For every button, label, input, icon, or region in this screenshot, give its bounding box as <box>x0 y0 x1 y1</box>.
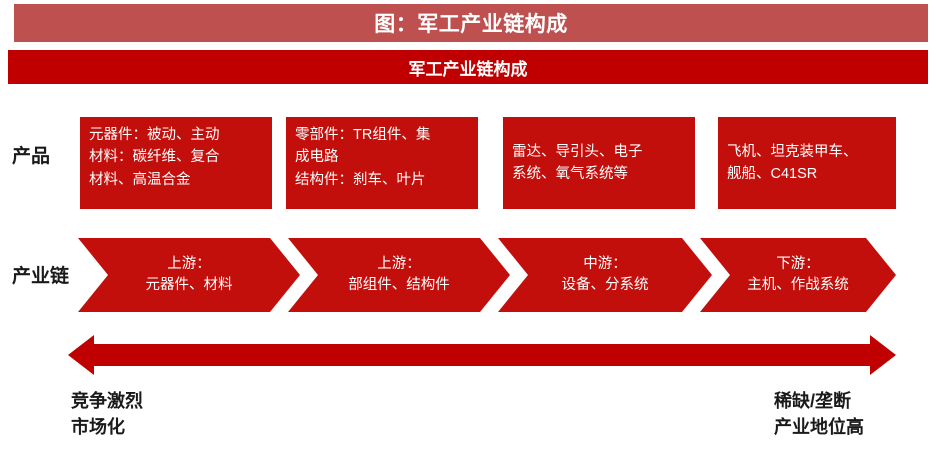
figure-subtitle: 军工产业链构成 <box>409 55 528 80</box>
product-box-line: 结构件：刹车、叶片 <box>295 169 469 191</box>
figure-subtitle-bar: 军工产业链构成 <box>8 50 928 84</box>
industry-chain-chevron-row: 上游： 元器件、材料 上游： 部组件、结构件 中游： 设备、分系统 下游： 主机… <box>78 238 896 312</box>
chain-stage-line1: 上游： <box>167 254 211 275</box>
product-box-line: 成电路 <box>295 146 469 168</box>
figure-title-bar: 图：军工产业链构成 <box>14 4 928 42</box>
chain-stage-line1: 上游： <box>377 254 421 275</box>
page-title: 图：军工产业链构成 <box>374 8 568 38</box>
product-box-line: 系统、氧气系统等 <box>512 163 686 185</box>
product-box-line: 舰船、C41SR <box>727 163 887 185</box>
chain-stage-line2: 元器件、材料 <box>146 275 233 296</box>
caption-scarce-monopoly: 稀缺/垄断 产业地位高 <box>774 388 864 440</box>
caption-line: 产业地位高 <box>774 414 864 440</box>
chain-stage-line2: 部组件、结构件 <box>348 275 450 296</box>
row-label-product: 产品 <box>12 141 50 168</box>
product-box-upstream-parts: 零部件：TR组件、集 成电路 结构件：刹车、叶片 <box>286 117 478 209</box>
product-box-line: 材料、高温合金 <box>89 169 263 191</box>
chain-stage-line2: 设备、分系统 <box>562 275 649 296</box>
product-box-line: 元器件：被动、主动 <box>89 124 263 146</box>
chain-stage-line1: 中游： <box>583 254 627 275</box>
caption-line: 稀缺/垄断 <box>774 388 864 414</box>
chain-stage-midstream: 中游： 设备、分系统 <box>498 238 712 312</box>
row-label-chain: 产业链 <box>12 261 69 288</box>
double-headed-arrow-icon <box>68 334 896 376</box>
chain-stage-line2: 主机、作战系统 <box>747 275 849 296</box>
product-box-downstream-platforms: 飞机、坦克装甲车、 舰船、C41SR <box>718 117 896 209</box>
chain-stage-line1: 下游： <box>776 254 820 275</box>
figure-canvas: 图：军工产业链构成 军工产业链构成 产品 产业链 元器件：被动、主动 材料：碳纤… <box>0 0 936 461</box>
chain-stage-downstream: 下游： 主机、作战系统 <box>700 238 896 312</box>
caption-line: 市场化 <box>71 414 143 440</box>
chain-stage-upstream-components: 上游： 元器件、材料 <box>78 238 300 312</box>
product-box-line: 雷达、导引头、电子 <box>512 141 686 163</box>
product-box-midstream-equipment: 雷达、导引头、电子 系统、氧气系统等 <box>503 117 695 209</box>
product-box-upstream-components: 元器件：被动、主动 材料：碳纤维、复合 材料、高温合金 <box>80 117 272 209</box>
caption-line: 竞争激烈 <box>71 388 143 414</box>
caption-competitive-market: 竞争激烈 市场化 <box>71 388 143 440</box>
product-box-line: 飞机、坦克装甲车、 <box>727 141 887 163</box>
product-box-line: 零部件：TR组件、集 <box>295 124 469 146</box>
product-box-line: 材料：碳纤维、复合 <box>89 146 263 168</box>
chain-stage-upstream-parts: 上游： 部组件、结构件 <box>288 238 510 312</box>
